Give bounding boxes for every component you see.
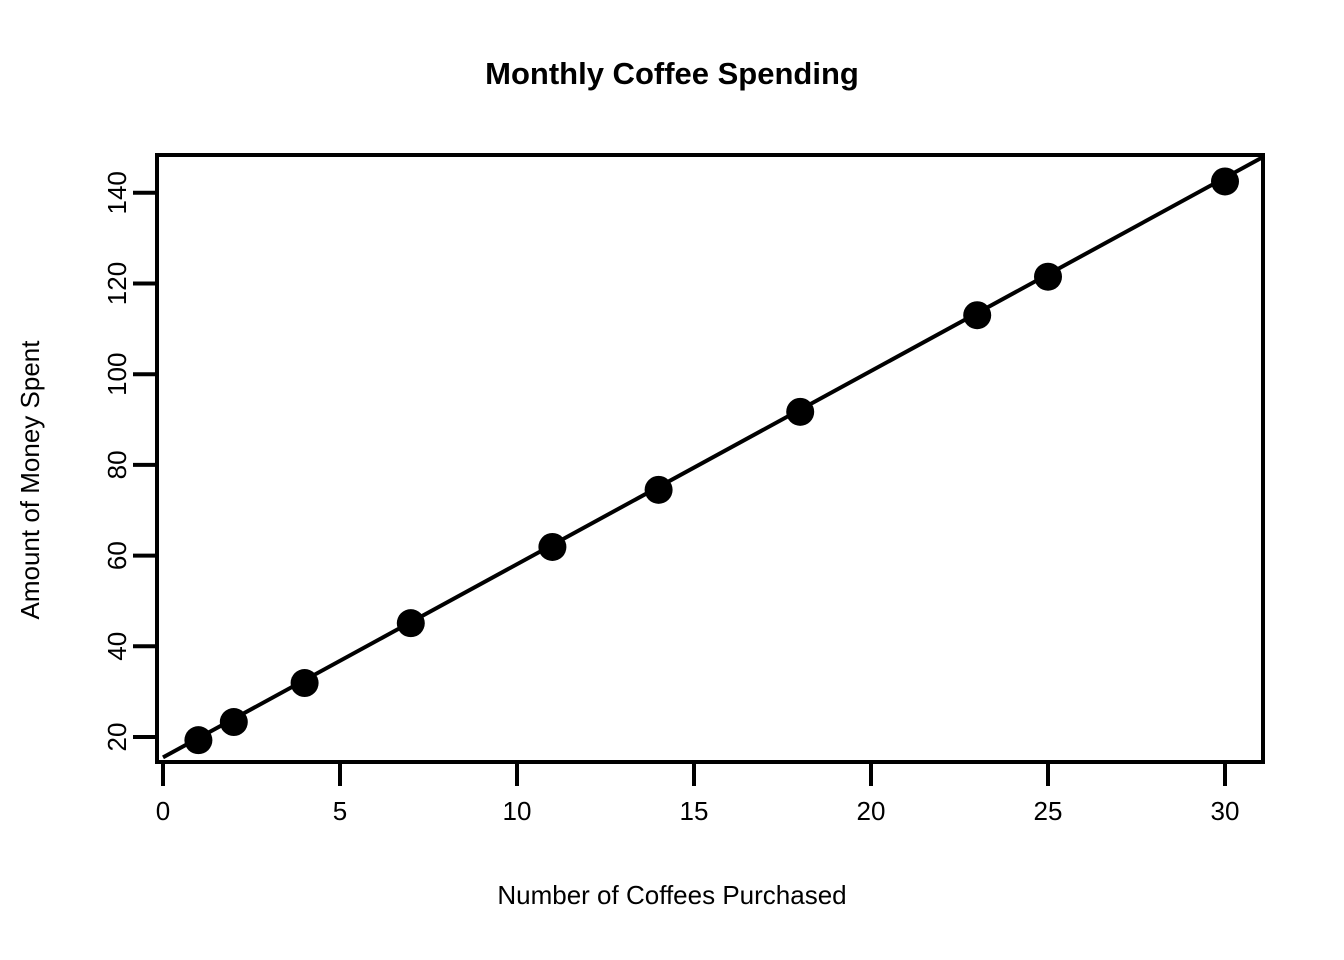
y-tick-label: 40 [102,632,132,661]
y-tick-label-group: 20406080100120140 [102,171,132,751]
plot-area: 051015202530 20406080100120140 [0,0,1344,960]
data-point [220,708,248,736]
x-tick-label: 30 [1211,796,1240,826]
trend-line [163,157,1264,758]
x-tick-label: 15 [680,796,709,826]
data-point [538,533,566,561]
y-tick-label: 140 [102,171,132,214]
x-tick-label-group: 051015202530 [156,796,1240,826]
x-tick-label: 20 [857,796,886,826]
data-point [963,301,991,329]
data-point [184,726,212,754]
y-tick-label: 80 [102,450,132,479]
data-point [645,476,673,504]
y-tick-label: 120 [102,262,132,305]
data-point [291,669,319,697]
data-point [397,609,425,637]
y-tick-label: 100 [102,353,132,396]
x-axis-ticks [163,762,1225,786]
y-tick-label: 60 [102,541,132,570]
x-tick-label: 25 [1034,796,1063,826]
x-tick-label: 5 [333,796,347,826]
chart-container: Monthly Coffee Spending Amount of Money … [0,0,1344,960]
regression-line [163,157,1264,758]
x-tick-label: 0 [156,796,170,826]
data-point [1211,167,1239,195]
data-point [1034,263,1062,291]
y-axis-ticks [133,193,157,737]
x-tick-label: 10 [503,796,532,826]
data-point [786,398,814,426]
y-tick-label: 20 [102,723,132,752]
